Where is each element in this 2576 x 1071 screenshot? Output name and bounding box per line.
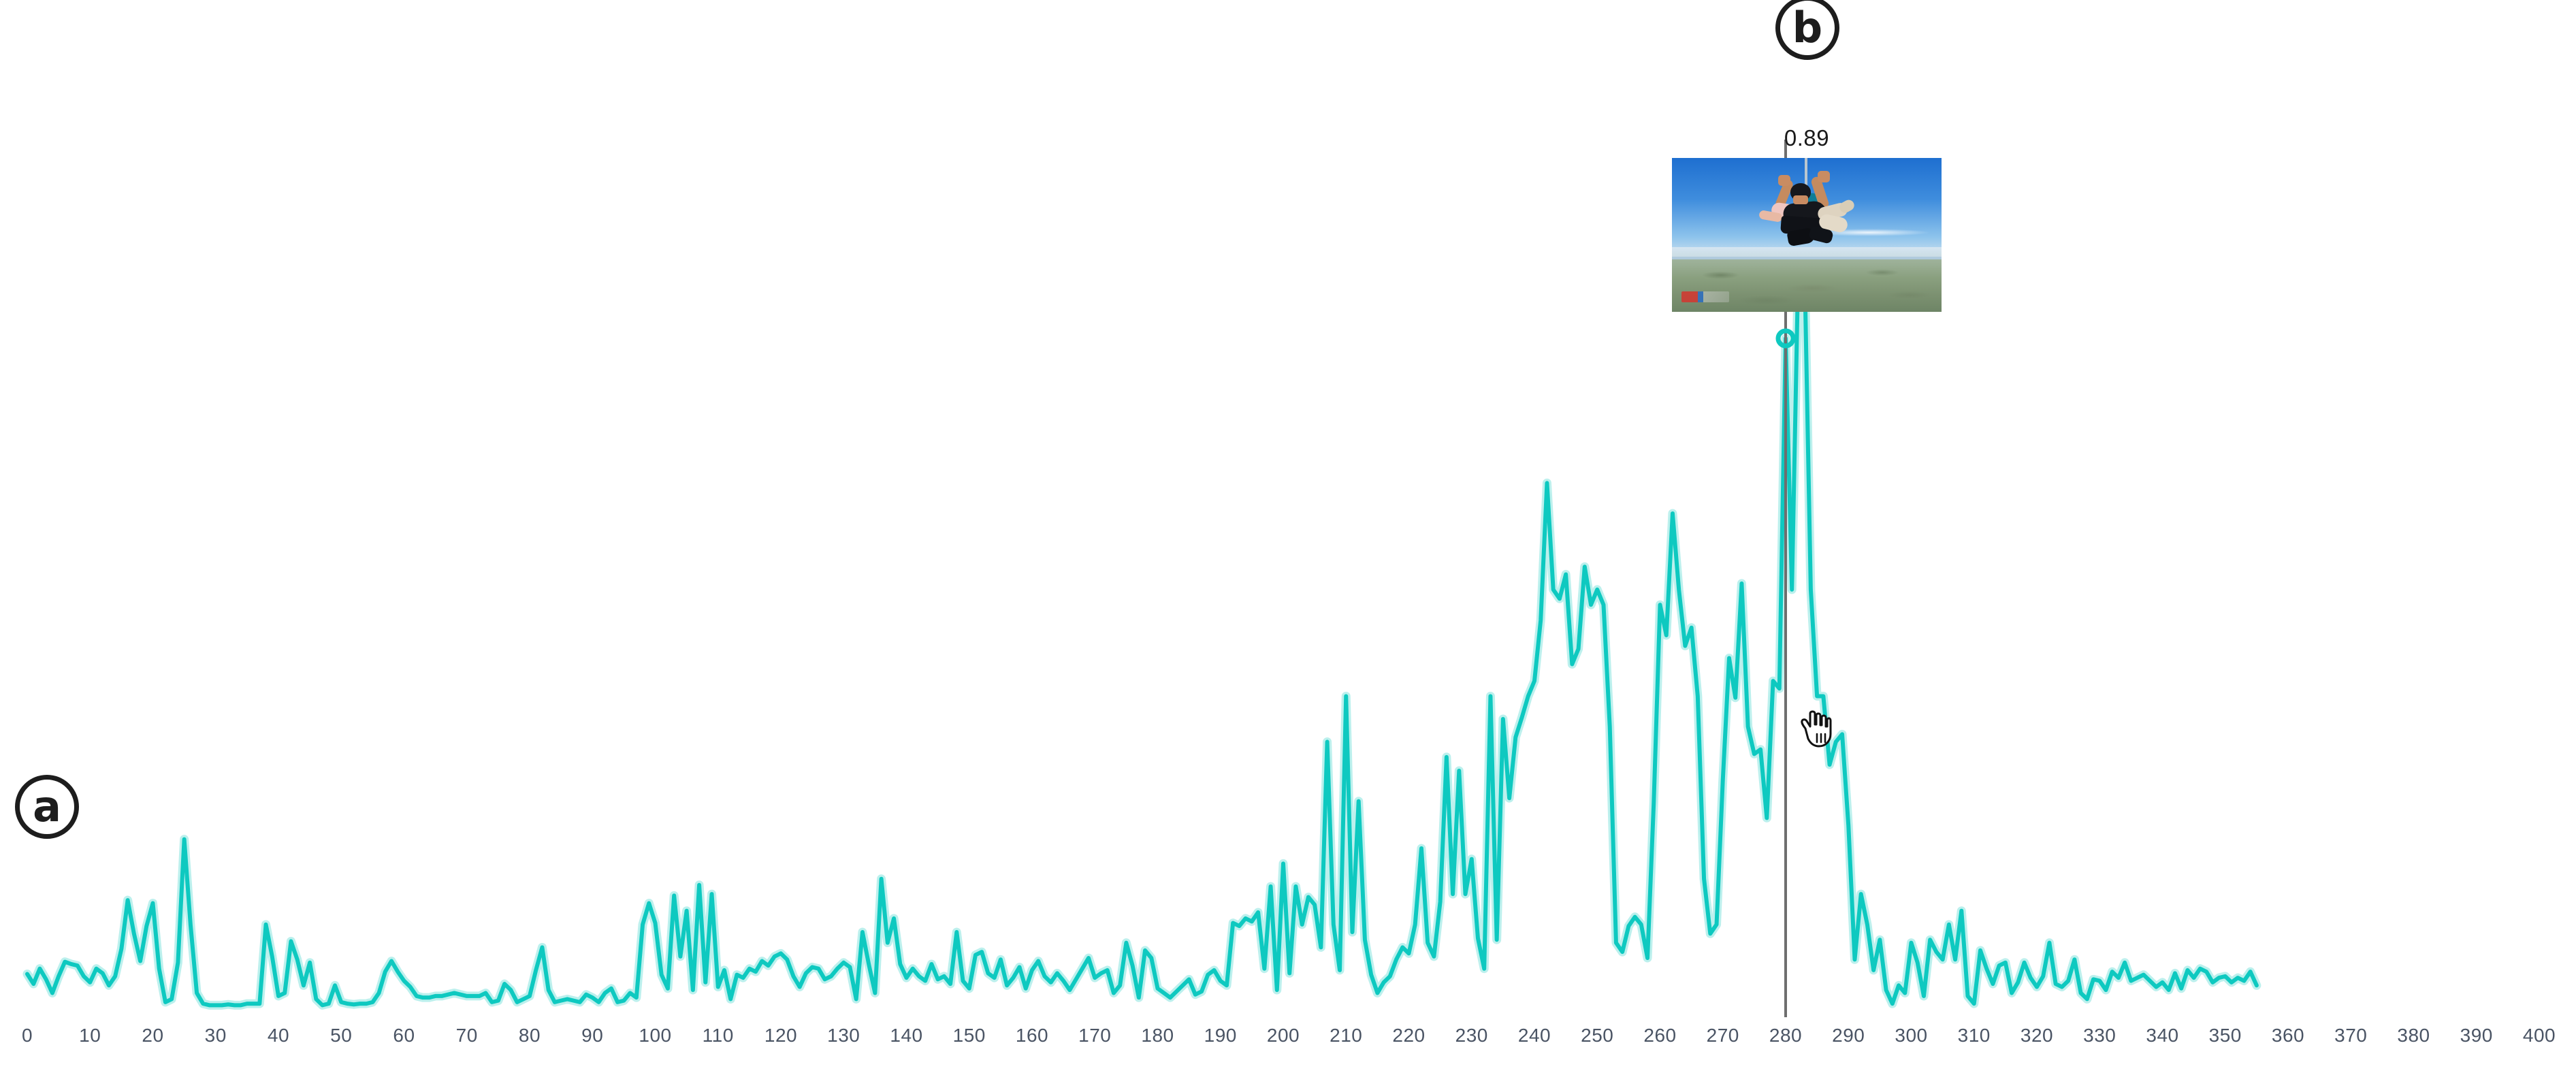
- x-tick-label-10: 10: [79, 1025, 101, 1046]
- x-tick-label-400: 400: [2523, 1025, 2556, 1046]
- x-tick-label-330: 330: [2083, 1025, 2116, 1046]
- x-tick-label-290: 290: [1832, 1025, 1865, 1046]
- x-tick-label-50: 50: [330, 1025, 352, 1046]
- x-tick-label-250: 250: [1581, 1025, 1613, 1046]
- image-watermark: [1681, 291, 1729, 302]
- x-axis: 0102030405060708090100110120130140150160…: [0, 1025, 2576, 1066]
- x-tick-label-90: 90: [581, 1025, 603, 1046]
- x-tick-label-300: 300: [1895, 1025, 1927, 1046]
- x-tick-label-160: 160: [1016, 1025, 1048, 1046]
- x-tick-label-70: 70: [456, 1025, 478, 1046]
- callout-b-label: b: [1792, 7, 1822, 49]
- x-tick-label-370: 370: [2334, 1025, 2367, 1046]
- x-tick-label-110: 110: [703, 1025, 734, 1046]
- callout-badge-a: a: [15, 775, 79, 839]
- x-tick-label-180: 180: [1141, 1025, 1174, 1046]
- x-tick-label-170: 170: [1078, 1025, 1111, 1046]
- ground-terrain: [1672, 259, 1942, 312]
- series-line-score[interactable]: [27, 262, 2257, 1005]
- x-tick-label-210: 210: [1330, 1025, 1362, 1046]
- x-tick-label-30: 30: [205, 1025, 227, 1046]
- x-tick-label-240: 240: [1518, 1025, 1551, 1046]
- x-tick-label-260: 260: [1643, 1025, 1676, 1046]
- x-tick-label-360: 360: [2272, 1025, 2304, 1046]
- series-line-glow: [27, 262, 2257, 1005]
- pointing-hand-cursor: [1797, 708, 1834, 749]
- x-tick-label-40: 40: [268, 1025, 289, 1046]
- x-tick-label-0: 0: [22, 1025, 33, 1046]
- x-tick-label-200: 200: [1267, 1025, 1300, 1046]
- hover-preview-line-chart: 0102030405060708090100110120130140150160…: [0, 0, 2576, 1071]
- x-tick-label-80: 80: [519, 1025, 541, 1046]
- x-tick-label-150: 150: [953, 1025, 986, 1046]
- tooltip-value: 0.89: [1672, 125, 1942, 151]
- x-tick-label-320: 320: [2020, 1025, 2053, 1046]
- x-tick-label-350: 350: [2209, 1025, 2242, 1046]
- x-tick-label-230: 230: [1455, 1025, 1488, 1046]
- skydiver-figure: [1752, 178, 1861, 265]
- x-tick-label-140: 140: [890, 1025, 922, 1046]
- tooltip-preview-image: [1672, 158, 1942, 312]
- callout-a-label: a: [33, 786, 61, 828]
- x-tick-label-380: 380: [2397, 1025, 2430, 1046]
- x-tick-label-340: 340: [2146, 1025, 2178, 1046]
- x-tick-label-270: 270: [1707, 1025, 1739, 1046]
- x-tick-label-130: 130: [827, 1025, 860, 1046]
- x-tick-label-60: 60: [393, 1025, 415, 1046]
- x-tick-label-20: 20: [142, 1025, 163, 1046]
- x-tick-label-280: 280: [1769, 1025, 1802, 1046]
- hover-tooltip: 0.89: [1672, 125, 1942, 312]
- x-tick-label-310: 310: [1958, 1025, 1991, 1046]
- plot-area[interactable]: [0, 0, 2576, 1071]
- x-tick-label-120: 120: [764, 1025, 797, 1046]
- x-tick-label-390: 390: [2460, 1025, 2493, 1046]
- x-tick-label-190: 190: [1204, 1025, 1237, 1046]
- x-tick-label-220: 220: [1392, 1025, 1425, 1046]
- x-tick-label-100: 100: [639, 1025, 671, 1046]
